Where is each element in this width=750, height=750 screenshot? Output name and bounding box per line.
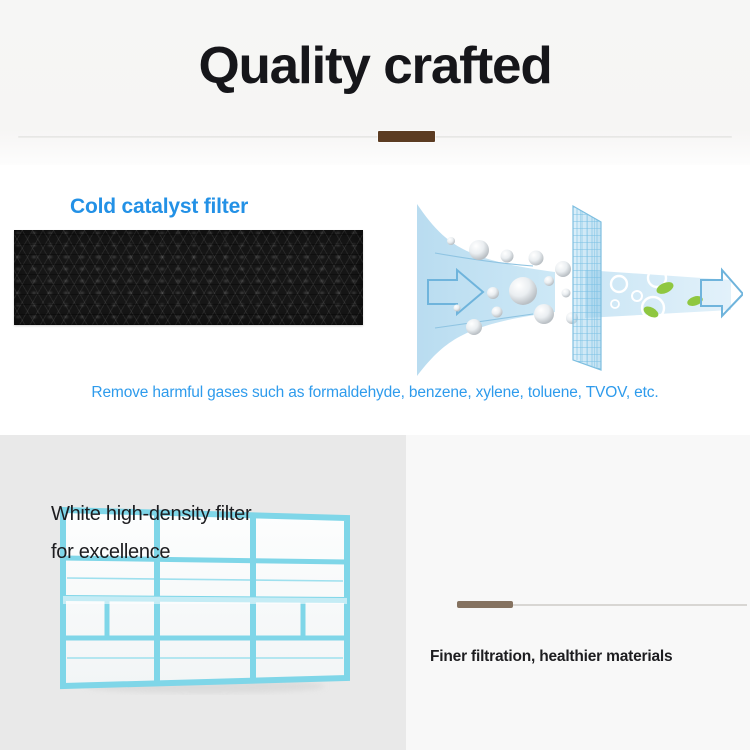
text-panel-inner	[406, 435, 750, 750]
white-filter-text-panel	[406, 435, 750, 750]
white-filter-accent-bar	[457, 601, 513, 608]
airflow-diagram	[405, 200, 743, 380]
airstream-right	[585, 270, 731, 318]
white-filter-heading-line-2: for excellence	[51, 533, 341, 571]
carbon-filter-image	[14, 230, 363, 325]
header-accent-bar	[378, 131, 435, 142]
header-divider-line	[18, 136, 732, 138]
honeycomb-texture-layer-c	[14, 230, 363, 325]
page-title: Quality crafted	[0, 36, 750, 96]
cold-catalyst-heading: Cold catalyst filter	[70, 195, 248, 219]
product-feature-page: Quality crafted Cold catalyst filter	[0, 0, 750, 750]
filter-mesh-screen-icon	[573, 206, 601, 370]
white-filter-image-panel	[0, 435, 406, 750]
header-banner: Quality crafted	[0, 0, 750, 165]
white-filter-heading-line-1: White high-density filter	[51, 495, 341, 533]
cold-catalyst-caption: Remove harmful gases such as formaldehyd…	[0, 384, 750, 402]
white-filter-subtext: Finer filtration, healthier materials	[430, 648, 672, 666]
airflow-diagram-svg	[405, 200, 743, 380]
white-filter-heading: White high-density filter for excellence	[51, 495, 341, 571]
cold-catalyst-section: Cold catalyst filter	[0, 165, 750, 435]
